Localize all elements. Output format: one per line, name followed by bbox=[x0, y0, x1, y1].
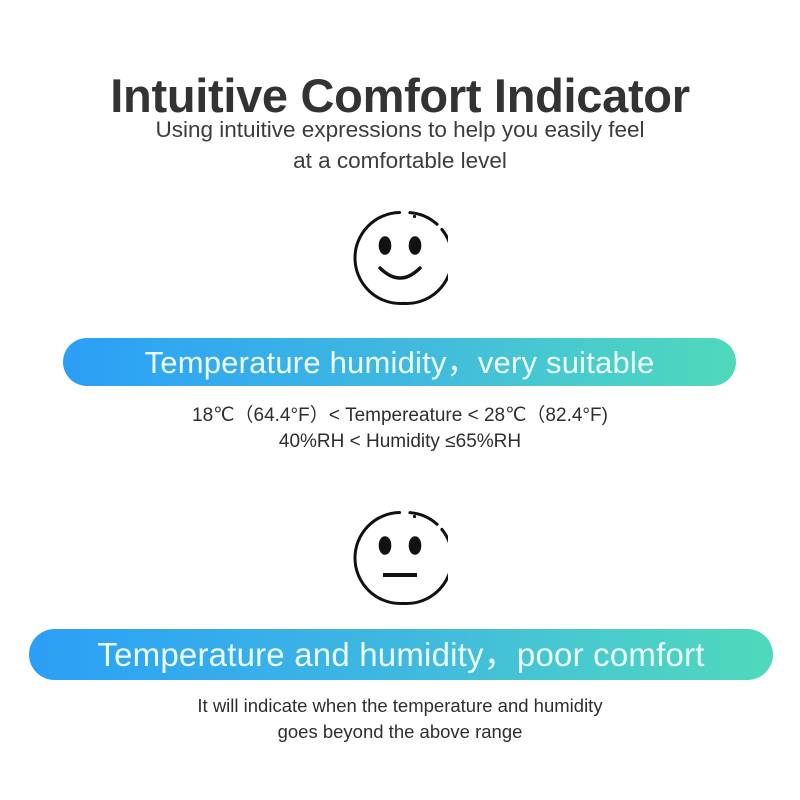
comfort-range-temperature: 18℃（64.4°F）< Tempereature < 28℃（82.4°F) bbox=[0, 403, 800, 429]
status-banner-poor-comfort: Temperature and humidity，poor comfort bbox=[29, 629, 773, 680]
out-of-range-notice-line-2: goes beyond the above range bbox=[0, 719, 800, 745]
status-banner-very-suitable-label: Temperature humidity，very suitable bbox=[145, 347, 655, 378]
comfort-range-caption: 18℃（64.4°F）< Tempereature < 28℃（82.4°F) … bbox=[0, 403, 800, 455]
page-subtitle: Using intuitive expressions to help you … bbox=[0, 114, 800, 176]
page-subtitle-line-1: Using intuitive expressions to help you … bbox=[0, 114, 800, 145]
out-of-range-notice-line-1: It will indicate when the temperature an… bbox=[0, 693, 800, 719]
status-banner-poor-comfort-label: Temperature and humidity，poor comfort bbox=[97, 638, 704, 671]
smiley-neutral-face-icon bbox=[352, 510, 448, 606]
comfort-range-humidity: 40%RH < Humidity ≤65%RH bbox=[0, 429, 800, 455]
comfort-indicator-page: Intuitive Comfort Indicator Using intuit… bbox=[0, 0, 800, 800]
smiley-happy-face-icon bbox=[352, 210, 448, 306]
status-banner-very-suitable: Temperature humidity，very suitable bbox=[63, 338, 736, 386]
page-subtitle-line-2: at a comfortable level bbox=[0, 145, 800, 176]
out-of-range-notice: It will indicate when the temperature an… bbox=[0, 693, 800, 745]
